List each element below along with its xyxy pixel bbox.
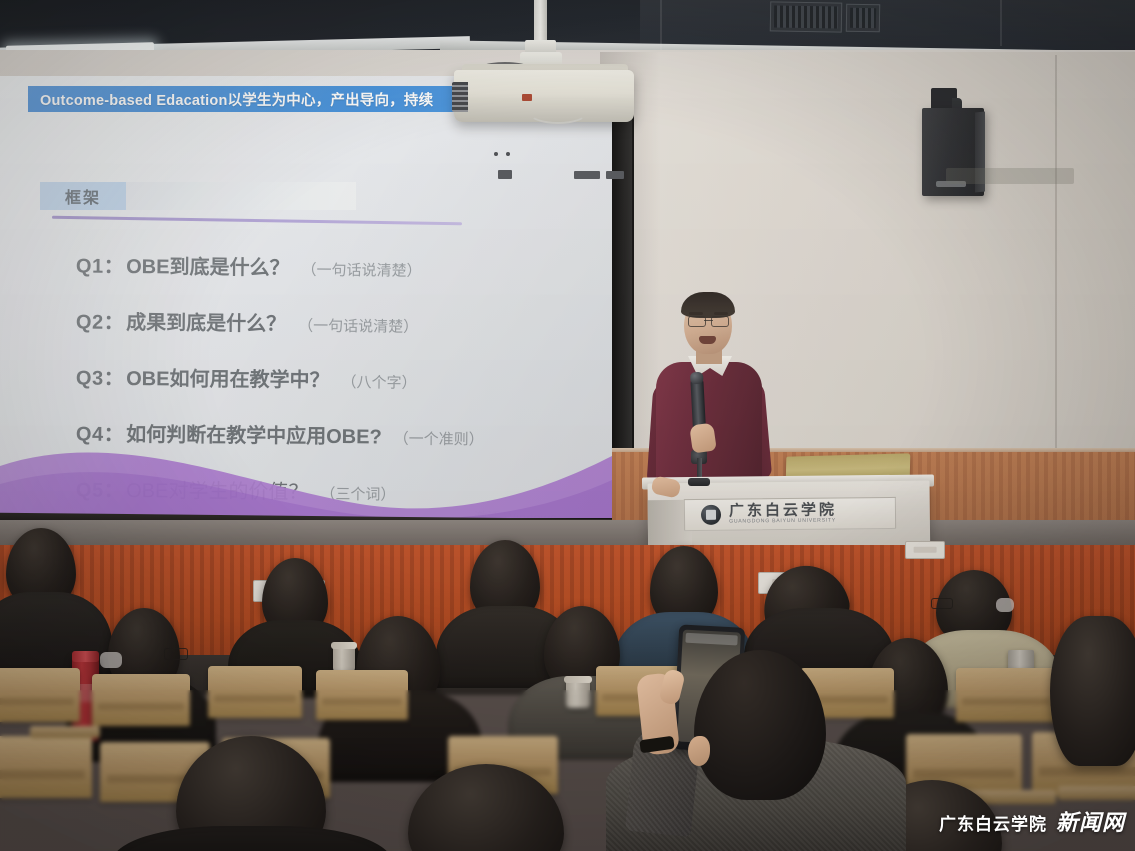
watermark-org: 广东白云学院 [939,810,1047,835]
projector-indicator-1 [494,152,498,156]
audience-glasses [931,598,953,609]
chair [0,736,92,798]
question-text: OBE到底是什么？ [126,250,290,281]
slide-title: Outcome-based Edacation以学生为中心，产出导向，持续 [40,89,433,110]
university-emblem-icon [701,505,721,525]
glasses-bridge [704,320,713,321]
question-note: （八个字） [341,371,416,393]
chair [92,674,190,726]
projector-cable-4 [528,100,588,124]
watermark-site: 新闻网 [1056,805,1125,837]
audience-member-photographing [596,618,916,851]
question-label: Q1： [76,250,124,279]
podium-microphone-base [688,478,710,486]
projector-hdmi-port [606,171,624,179]
presenter [636,296,776,496]
question-label: Q3： [76,362,124,391]
question-text: 成果到底是什么？ [126,306,286,337]
chair-armrest [1058,786,1135,800]
wall-outlet-right [905,541,945,559]
presenter-mouth [699,336,716,344]
projector-indicator-2 [506,152,510,156]
ceiling-vent-1 [770,1,843,32]
question-text: OBE如何用在教学中？ [126,362,330,393]
podium-name-en: GUANGDONG BAIYUN UNIVERSITY [729,519,837,526]
projector-lens [452,82,468,112]
slide-surface: Outcome-based Edacation以学生为中心，产出导向，持续 框架… [0,76,612,518]
question-label: Q2： [76,306,124,335]
question-note: （一句话说清楚） [301,259,421,281]
question-row: Q1： OBE到底是什么？ （一句话说清楚） [76,250,596,284]
projector-power-port [498,170,512,179]
projector-vga-port [574,171,600,179]
slide-divider [52,216,462,225]
ceiling-vent-2 [846,4,880,33]
slide-section-tag: 框架 [40,182,126,210]
question-note: （一句话说清楚） [298,315,418,337]
ceiling-seam-1 [660,0,662,52]
slide-wave-decoration [0,412,612,518]
news-watermark: 广东白云学院 新闻网 [939,805,1125,837]
lecture-hall-photo: Outcome-based Edacation以学生为中心，产出导向，持续 框架… [0,0,1135,851]
photographer-ear [688,736,710,766]
hair-clip [996,598,1014,612]
podium-name-block: 广东白云学院 GUANGDONG BAIYUN UNIVERSITY [729,503,837,525]
question-row: Q2： 成果到底是什么？ （一句话说清楚） [76,306,596,340]
chair [956,668,1056,722]
question-row: Q3： OBE如何用在教学中？ （八个字） [76,362,596,396]
projection-screen: Outcome-based Edacation以学生为中心，产出导向，持续 框架… [0,76,634,526]
photographer-head [694,650,826,800]
presenter-glasses [688,316,729,326]
presenter-brow-left [689,312,703,315]
chair-armrest [30,726,100,738]
chair [316,670,408,720]
chair [208,666,302,718]
podium-nameplate: 广东白云学院 GUANGDONG BAIYUN UNIVERSITY [684,497,896,531]
chair [0,668,80,722]
presenter-hand-holding-mic [689,422,717,453]
slide-section-tag-label: 框架 [65,184,101,208]
audience-head-foreground [1050,616,1135,766]
ceiling-seam-2 [1000,0,1002,46]
wall-seam [1055,55,1057,485]
projector-cable-tag [522,94,532,101]
slide-tag-tail [126,182,356,210]
camera-ui-bar [685,633,737,646]
projector-io-panel [946,168,1074,184]
presenter-brow-right [714,312,728,315]
